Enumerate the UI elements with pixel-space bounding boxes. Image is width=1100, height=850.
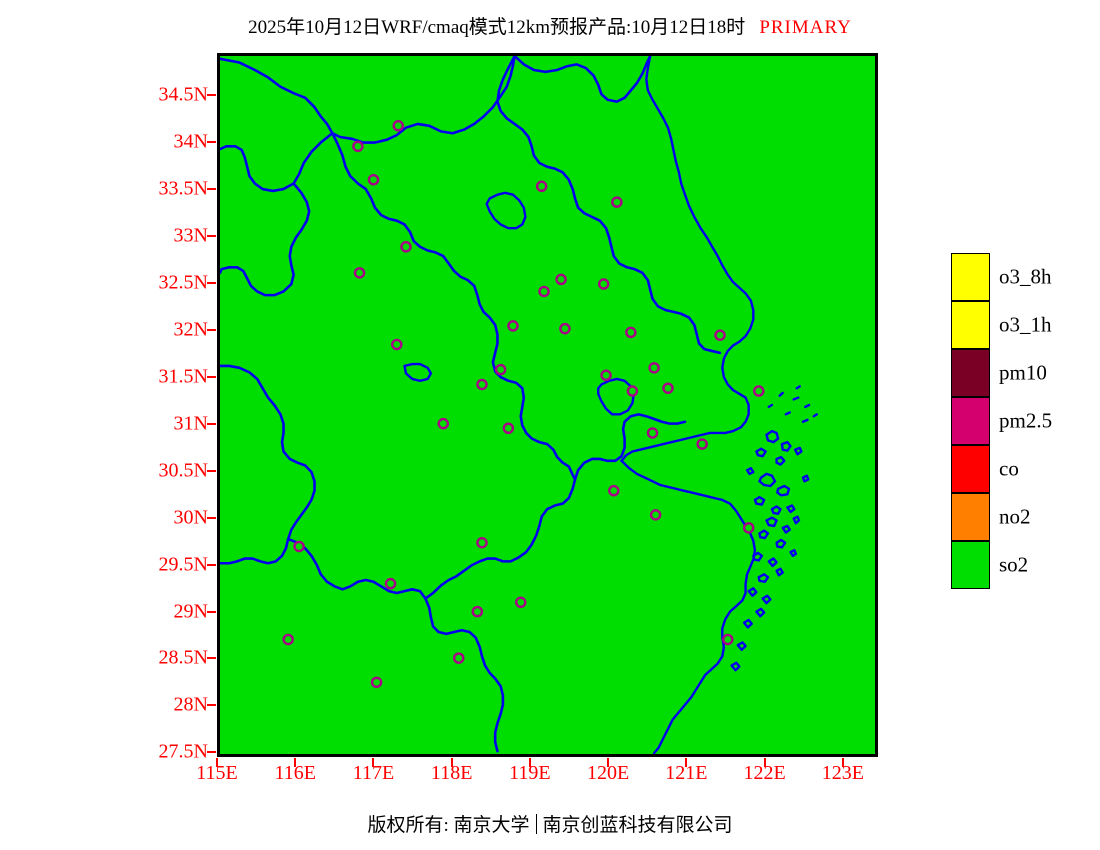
map-plot-area[interactable] xyxy=(217,53,878,757)
station-marker[interactable] xyxy=(454,654,463,663)
legend-item-o3-8h[interactable]: o3_8h xyxy=(951,253,990,301)
y-axis-tick-mark xyxy=(207,94,216,96)
station-marker[interactable] xyxy=(372,678,381,687)
y-axis-tick-label: 31.5N xyxy=(159,365,208,388)
map-boundary-line xyxy=(814,414,817,416)
y-axis-tick-mark xyxy=(207,657,216,659)
x-axis-tick-mark xyxy=(451,758,453,767)
legend-color-swatch xyxy=(951,493,990,541)
station-marker[interactable] xyxy=(648,428,657,437)
x-axis-tick-mark xyxy=(764,758,766,767)
station-marker[interactable] xyxy=(508,321,517,330)
x-axis-tick-mark xyxy=(216,758,218,767)
legend-color-swatch xyxy=(951,397,990,445)
y-axis-tick-label: 29.5N xyxy=(159,553,208,576)
legend-item-label: so2 xyxy=(999,553,1028,578)
y-axis-tick-label: 33.5N xyxy=(159,178,208,201)
station-marker[interactable] xyxy=(723,635,732,644)
legend: o3_8ho3_1hpm10pm2.5cono2so2 xyxy=(951,253,990,589)
y-axis-tick-label: 34N xyxy=(174,131,208,154)
station-marker[interactable] xyxy=(609,486,618,495)
legend-item-label: co xyxy=(999,457,1019,482)
station-marker[interactable] xyxy=(504,424,513,433)
x-axis-tick-mark xyxy=(607,758,609,767)
y-axis-tick-mark xyxy=(207,282,216,284)
y-axis-tick-mark xyxy=(207,423,216,425)
footer-right-text: 南京创蓝科技有限公司 xyxy=(543,815,733,836)
legend-item-pm2-5[interactable]: pm2.5 xyxy=(951,397,990,445)
x-axis-tick-mark xyxy=(294,758,296,767)
x-axis-tick-mark xyxy=(685,758,687,767)
map-boundary-line xyxy=(769,405,772,407)
x-axis-tick-mark xyxy=(842,758,844,767)
station-marker[interactable] xyxy=(557,275,566,284)
station-marker[interactable] xyxy=(698,440,707,449)
legend-item-co[interactable]: co xyxy=(951,445,990,493)
station-marker[interactable] xyxy=(355,268,364,277)
station-marker[interactable] xyxy=(599,279,608,288)
station-marker[interactable] xyxy=(628,386,637,395)
y-axis-tick-mark xyxy=(207,470,216,472)
map-boundary-line xyxy=(805,405,809,407)
y-axis-tick-mark xyxy=(207,517,216,519)
station-marker[interactable] xyxy=(439,419,448,428)
legend-color-swatch xyxy=(951,445,990,493)
station-marker[interactable] xyxy=(663,384,672,393)
footer-separator xyxy=(536,814,537,834)
station-marker[interactable] xyxy=(560,324,569,333)
y-axis-tick-mark xyxy=(207,188,216,190)
y-axis-tick-mark xyxy=(207,376,216,378)
y-axis: 34.5N34N33.5N33N32.5N32N31.5N31N30.5N30N… xyxy=(120,0,208,850)
station-marker[interactable] xyxy=(612,198,621,207)
station-marker[interactable] xyxy=(392,340,401,349)
legend-item-so2[interactable]: so2 xyxy=(951,541,990,589)
map-boundary-line xyxy=(797,386,800,388)
y-axis-tick-mark xyxy=(207,611,216,613)
station-marker[interactable] xyxy=(651,510,660,519)
station-marker[interactable] xyxy=(394,121,403,130)
x-axis-tick-mark xyxy=(372,758,374,767)
y-axis-tick-label: 34.5N xyxy=(159,84,208,107)
station-marker[interactable] xyxy=(369,175,378,184)
station-marker[interactable] xyxy=(284,635,293,644)
y-axis-tick-mark xyxy=(207,329,216,331)
station-marker[interactable] xyxy=(744,523,753,532)
station-marker[interactable] xyxy=(386,579,395,588)
y-axis-tick-label: 33N xyxy=(174,225,208,248)
legend-item-o3-1h[interactable]: o3_1h xyxy=(951,301,990,349)
y-axis-tick-mark xyxy=(207,235,216,237)
y-axis-tick-label: 30N xyxy=(174,506,208,529)
title-primary-text: PRIMARY xyxy=(759,17,852,38)
station-marker[interactable] xyxy=(496,365,505,374)
y-axis-tick-label: 27.5N xyxy=(159,741,208,764)
x-axis-tick-mark xyxy=(529,758,531,767)
map-canvas xyxy=(220,56,875,754)
station-marker[interactable] xyxy=(295,542,304,551)
y-axis-tick-label: 28N xyxy=(174,694,208,717)
legend-item-label: o3_8h xyxy=(999,265,1052,290)
station-marker[interactable] xyxy=(477,538,486,547)
legend-item-label: o3_1h xyxy=(999,313,1052,338)
y-axis-tick-mark xyxy=(207,564,216,566)
legend-item-label: pm10 xyxy=(999,361,1047,386)
legend-item-pm10[interactable]: pm10 xyxy=(951,349,990,397)
legend-item-label: pm2.5 xyxy=(999,409,1052,434)
legend-color-swatch xyxy=(951,349,990,397)
station-marker[interactable] xyxy=(650,363,659,372)
legend-color-swatch xyxy=(951,541,990,589)
y-axis-tick-label: 32.5N xyxy=(159,271,208,294)
footer-left-text: 版权所有: 南京大学 xyxy=(367,815,529,836)
y-axis-tick-label: 30.5N xyxy=(159,459,208,482)
station-marker[interactable] xyxy=(473,607,482,616)
legend-item-label: no2 xyxy=(999,505,1031,530)
station-marker[interactable] xyxy=(754,386,763,395)
y-axis-tick-label: 28.5N xyxy=(159,647,208,670)
station-marker[interactable] xyxy=(537,182,546,191)
y-axis-tick-mark xyxy=(207,704,216,706)
title-main-text: 2025年10月12日WRF/cmaq模式12km预报产品:10月12日18时 xyxy=(248,17,745,38)
y-axis-tick-label: 29N xyxy=(174,600,208,623)
legend-color-swatch xyxy=(951,253,990,301)
copyright-footer: 版权所有: 南京大学南京创蓝科技有限公司 xyxy=(0,810,1100,837)
station-marker[interactable] xyxy=(602,371,611,380)
station-marker[interactable] xyxy=(477,380,486,389)
station-marker[interactable] xyxy=(401,242,410,251)
legend-color-swatch xyxy=(951,301,990,349)
y-axis-tick-label: 31N xyxy=(174,412,208,435)
y-axis-tick-mark xyxy=(207,751,216,753)
station-marker[interactable] xyxy=(516,598,525,607)
station-marker[interactable] xyxy=(715,331,724,340)
station-marker[interactable] xyxy=(539,287,548,296)
y-axis-tick-label: 32N xyxy=(174,318,208,341)
y-axis-tick-mark xyxy=(207,141,216,143)
station-marker[interactable] xyxy=(626,328,635,337)
station-marker[interactable] xyxy=(353,142,362,151)
legend-item-no2[interactable]: no2 xyxy=(951,493,990,541)
